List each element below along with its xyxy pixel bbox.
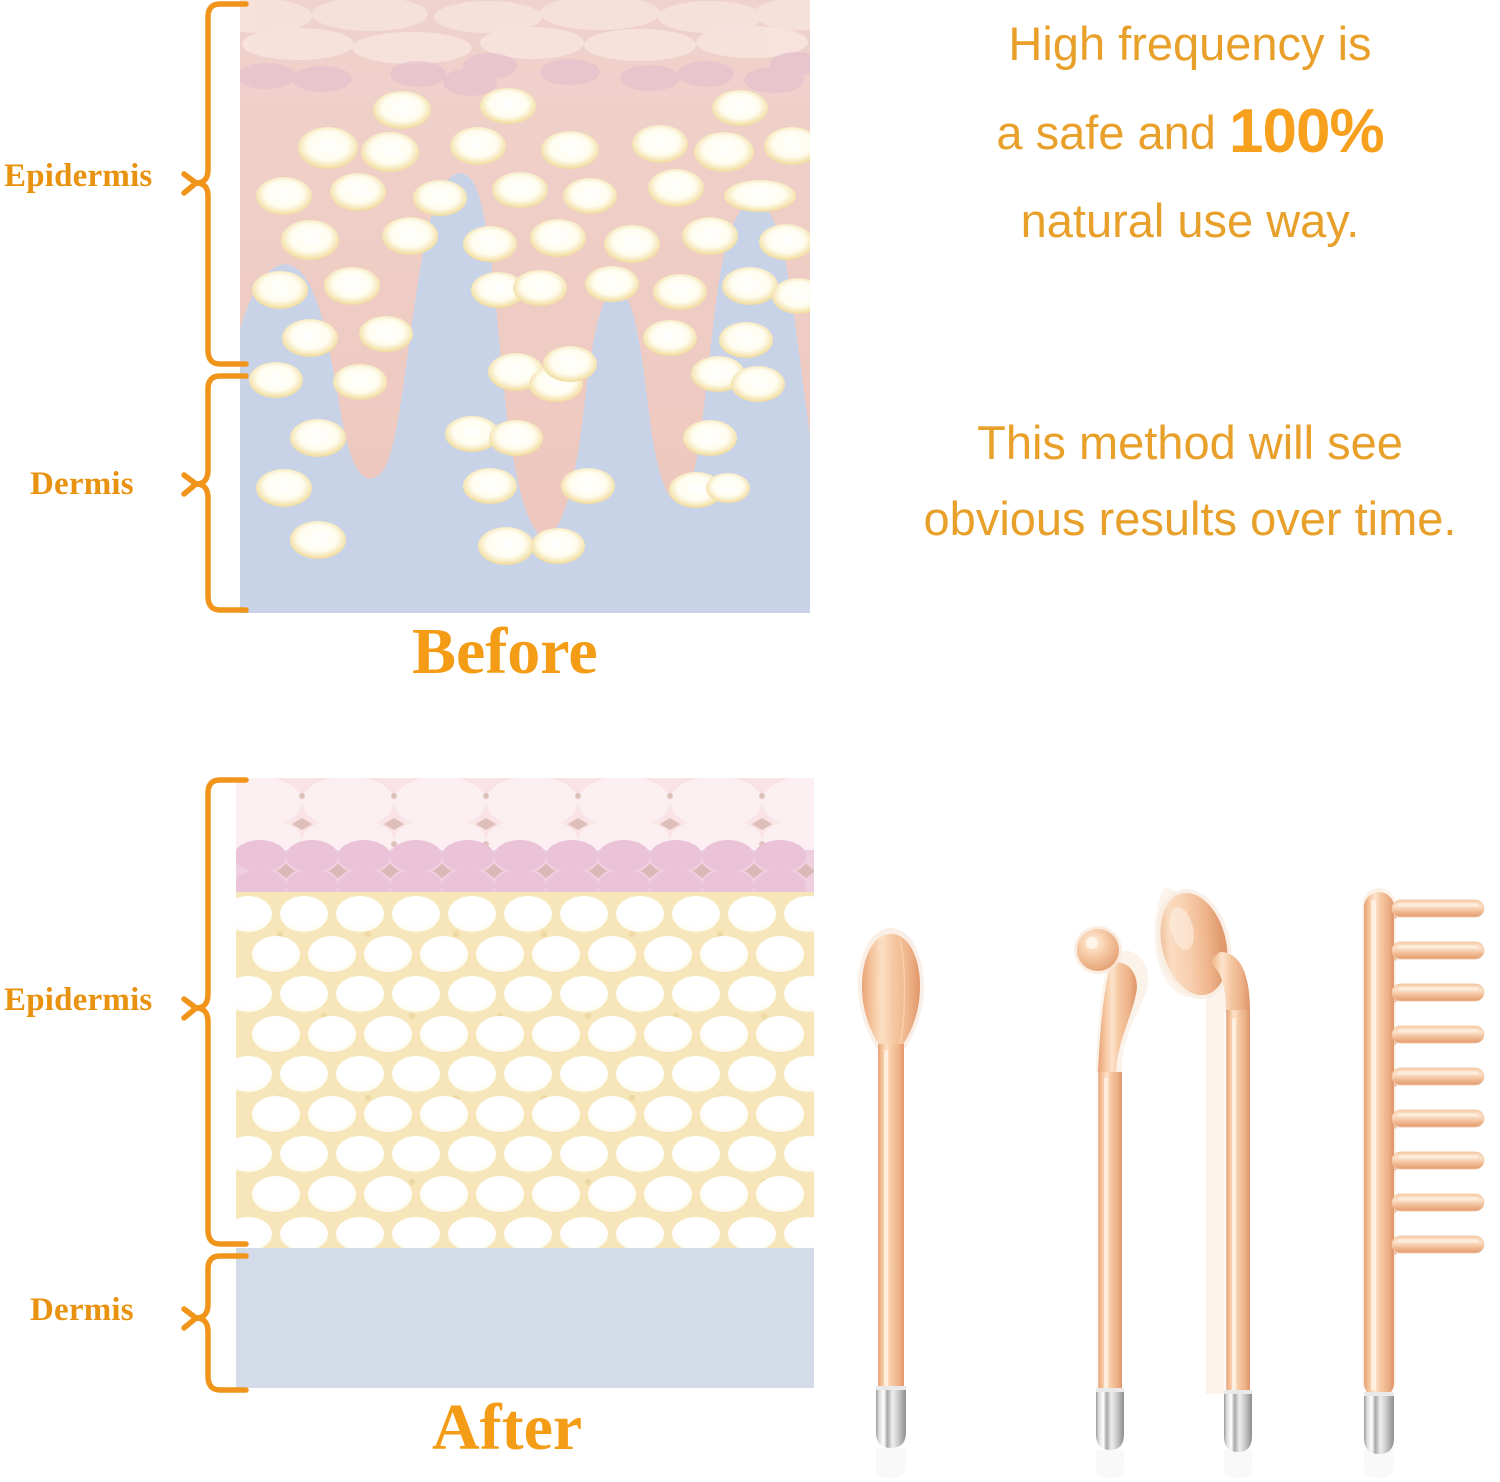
before-dermis-label: Dermis	[30, 466, 134, 503]
headline-copy-2: This method will see obvious results ove…	[900, 405, 1480, 557]
after-dermis-label: Dermis	[30, 1292, 134, 1329]
before-caption: Before	[412, 614, 598, 690]
after-brackets	[190, 776, 250, 1392]
before-skin-svg	[240, 0, 810, 613]
dermis-arrow	[184, 475, 196, 494]
after-dermis-arrow	[184, 1309, 196, 1328]
copy1-line2-text: a safe and	[996, 106, 1229, 159]
before-skin-diagram	[240, 0, 810, 613]
after-epidermis-label: Epidermis	[4, 982, 152, 1019]
copy1-line2: a safe and 100%	[900, 82, 1480, 182]
after-epidermis-arrow	[184, 999, 196, 1018]
mushroom-electrode-reflection	[1146, 1450, 1296, 1482]
product-infographic: Epidermis Dermis Before	[0, 0, 1500, 1478]
headline-copy-1: High frequency is a safe and 100% natura…	[900, 6, 1480, 259]
comb-electrode-reflection	[1340, 1450, 1500, 1482]
copy1-line3: natural use way.	[900, 183, 1480, 259]
bulb-electrode-reflection	[836, 1448, 946, 1482]
after-skin-diagram	[236, 778, 814, 1388]
after-skin-svg	[236, 778, 814, 1388]
before-epidermis-label: Epidermis	[4, 158, 152, 195]
epidermis-arrow	[184, 174, 196, 193]
after-caption: After	[432, 1390, 582, 1466]
comb-electrode-wand	[1340, 872, 1500, 1462]
highlight-100-percent: 100%	[1229, 97, 1384, 166]
copy1-line1: High frequency is	[900, 6, 1480, 82]
mushroom-electrode-wand	[1146, 860, 1296, 1460]
bulb-electrode-wand	[836, 920, 946, 1460]
before-brackets	[190, 0, 250, 618]
